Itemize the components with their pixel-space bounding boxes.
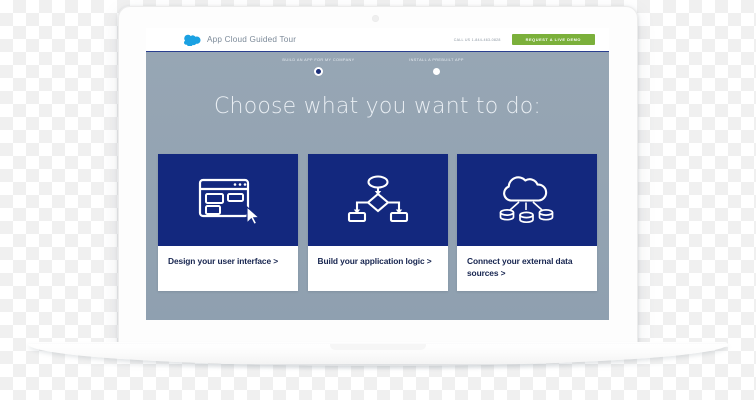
step-install-prebuilt[interactable]: INSTALL A PREBUILT APP [397, 58, 477, 75]
request-demo-button[interactable]: REQUEST A LIVE DEMO [512, 34, 595, 46]
browser-screen: App Cloud Guided Tour CALL US 1-844-463-… [146, 28, 609, 320]
brand[interactable]: App Cloud Guided Tour [184, 34, 296, 46]
card-build-logic[interactable]: Build your application logic > [308, 154, 448, 291]
card-artwork [457, 154, 597, 246]
step-label: INSTALL A PREBUILT APP [409, 58, 464, 64]
step-radio-inactive[interactable] [433, 68, 440, 75]
choice-cards: Design your user interface > [158, 154, 597, 291]
step-radio-active[interactable] [315, 68, 322, 75]
card-label: Build your application logic > [308, 246, 448, 279]
card-connect-data[interactable]: Connect your external data sources > [457, 154, 597, 291]
step-build-app[interactable]: BUILD AN APP FOR MY COMPANY [279, 58, 359, 75]
laptop-base-notch [330, 344, 426, 350]
call-us-text: CALL US 1-844-463-0828 [454, 38, 501, 42]
card-artwork [158, 154, 298, 246]
card-label: Design your user interface > [158, 246, 298, 279]
card-artwork [308, 154, 448, 246]
header-actions: CALL US 1-844-463-0828 REQUEST A LIVE DE… [454, 34, 595, 46]
laptop-mockup: App Cloud Guided Tour CALL US 1-844-463-… [0, 0, 756, 400]
step-label: BUILD AN APP FOR MY COMPANY [282, 58, 354, 64]
flowchart-icon [347, 175, 409, 225]
site-header: App Cloud Guided Tour CALL US 1-844-463-… [146, 28, 609, 52]
page-body: BUILD AN APP FOR MY COMPANY INSTALL A PR… [146, 52, 609, 320]
card-label: Connect your external data sources > [457, 246, 597, 291]
browser-window-icon [197, 175, 259, 225]
page-title: Choose what you want to do: [146, 94, 609, 119]
laptop-shadow [60, 364, 700, 370]
card-design-ui[interactable]: Design your user interface > [158, 154, 298, 291]
step-selector: BUILD AN APP FOR MY COMPANY INSTALL A PR… [146, 58, 609, 75]
salesforce-cloud-logo-icon [184, 34, 201, 46]
laptop-lid: App Cloud Guided Tour CALL US 1-844-463-… [118, 6, 638, 348]
cloud-databases-icon [494, 175, 560, 225]
brand-title: App Cloud Guided Tour [207, 35, 296, 44]
webcam-icon [372, 15, 379, 22]
